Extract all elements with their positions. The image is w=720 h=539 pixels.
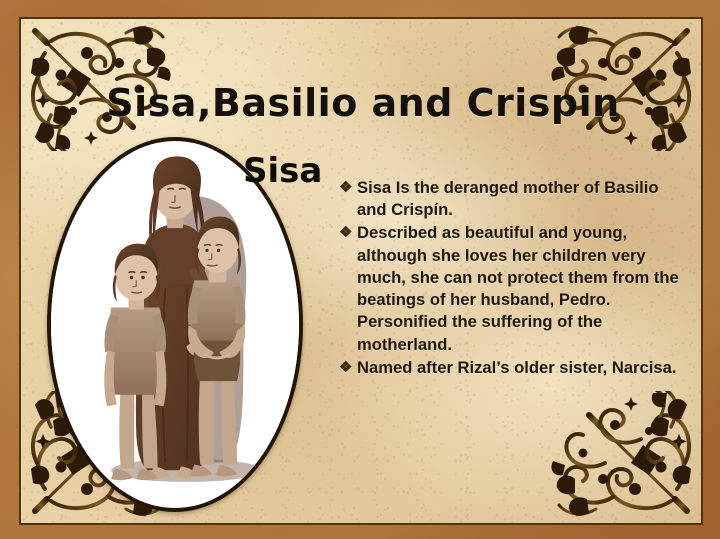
list-item: ❖ Sisa Is the deranged mother of Basilio… bbox=[339, 177, 691, 221]
bullet-list: ❖ Sisa Is the deranged mother of Basilio… bbox=[339, 177, 691, 380]
section-subtitle: Sisa bbox=[243, 151, 322, 191]
list-item: ❖ Described as beautiful and young, alth… bbox=[339, 222, 691, 355]
floret-bullet-icon: ❖ bbox=[339, 357, 357, 379]
parchment-panel: Sisa,Basilio and Crispin bbox=[19, 17, 703, 525]
slide-title: Sisa,Basilio and Crispin bbox=[21, 81, 703, 125]
floret-bullet-icon: ❖ bbox=[339, 222, 357, 244]
floret-bullet-icon: ❖ bbox=[339, 177, 357, 199]
list-item-text: Described as beautiful and young, althou… bbox=[357, 222, 691, 355]
sisa-portrait-oval bbox=[47, 137, 303, 512]
list-item-text: Sisa Is the deranged mother of Basilio a… bbox=[357, 177, 691, 221]
list-item-text: Named after Rizal’s older sister, Narcis… bbox=[357, 357, 691, 379]
list-item: ❖ Named after Rizal’s older sister, Narc… bbox=[339, 357, 691, 379]
sisa-and-sons-illustration bbox=[51, 141, 299, 508]
slide-canvas: Sisa,Basilio and Crispin bbox=[0, 0, 720, 539]
corner-ornament-bottom-right-icon bbox=[549, 391, 701, 523]
